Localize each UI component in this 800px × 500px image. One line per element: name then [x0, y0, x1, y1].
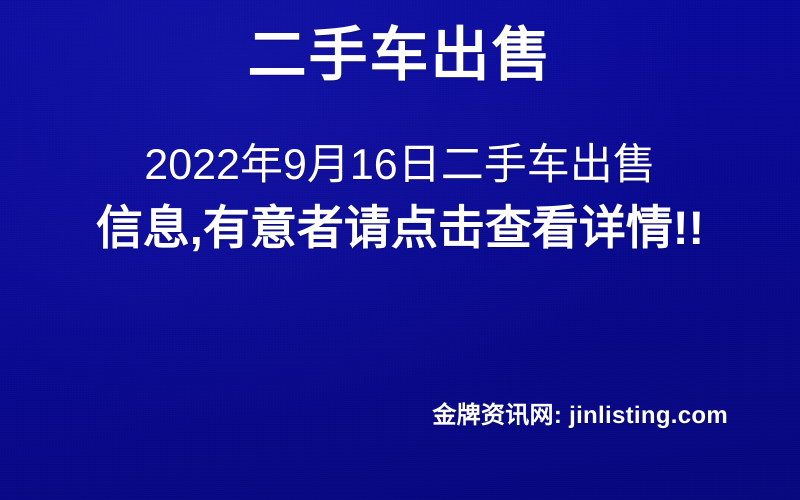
body-text-line-2: 信息,有意者请点击查看详情!! [0, 204, 800, 251]
page-title: 二手车出售 [0, 26, 800, 85]
site-credit-watermark: 金牌资讯网: jinlisting.com [0, 404, 728, 428]
promo-poster: 二手车出售 2022年9月16日二手车出售 信息,有意者请点击查看详情!! 金牌… [0, 0, 800, 500]
body-text-line-1: 2022年9月16日二手车出售 [0, 144, 800, 187]
